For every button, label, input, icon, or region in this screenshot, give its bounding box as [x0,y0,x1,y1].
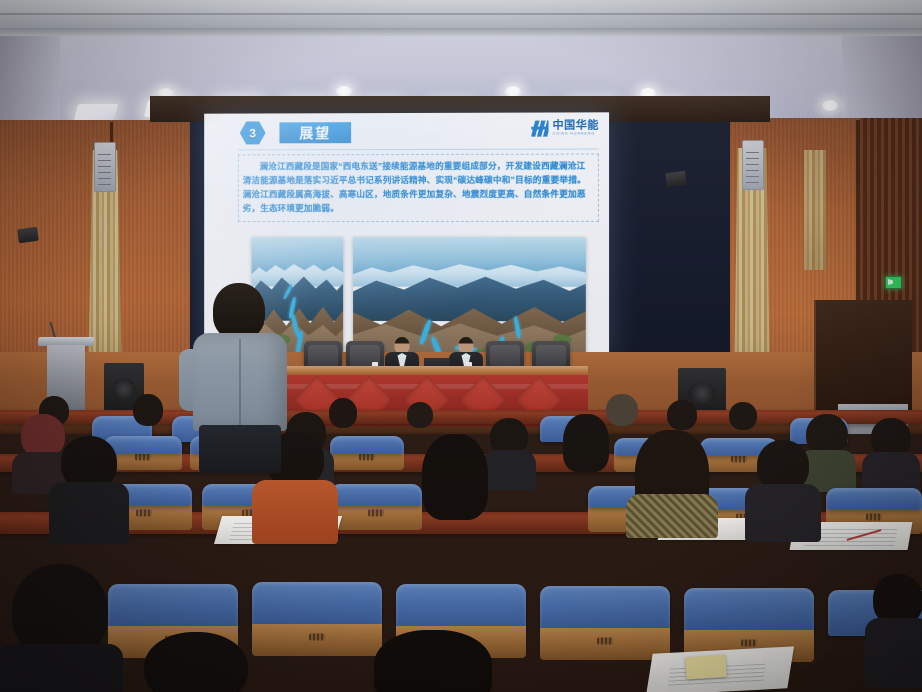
ceiling-downlight [822,100,838,111]
person-torso [626,494,718,538]
person-torso [745,484,821,542]
audience-seat [330,436,404,454]
audience-member [868,574,922,686]
person-hair [563,414,609,472]
logo-text-english: CHINA HUANENG [553,133,599,137]
logo-text-chinese: 中国华能 [553,121,599,132]
person-head [407,402,433,428]
audience-seating-area [0,388,922,692]
handout-paper [685,655,726,680]
audience-member [136,632,256,692]
audience-seat [396,584,526,630]
company-logo: 中国华能 CHINA HUANENG [531,120,599,136]
audience-member [418,434,492,532]
person-head [667,400,697,430]
table-top-surface [286,366,588,375]
curtain-track-bracket [742,140,764,190]
person-head [144,632,248,692]
audience-member [630,430,714,534]
audience-member [402,402,438,436]
wall-speaker [665,171,687,188]
slide-section-badge: 3 [240,121,266,144]
person-head [329,398,357,428]
slide-paragraph: 澜沧江西藏段是国家“西电东送”接续能源基地的重要组成部分，开发建设西藏澜沧江清洁… [243,160,594,216]
slide-title: 展望 [279,122,351,143]
audience-seat [684,588,814,634]
audience-member [128,394,168,436]
exit-sign-icon [885,276,902,289]
audience-seat [252,582,382,628]
audience-seat [108,584,238,630]
standing-presenter [185,283,293,468]
person-head [213,283,265,339]
audience-member [748,440,818,532]
audience-seat [330,484,422,506]
stage-curtain-far-right [804,150,826,270]
seat-back-panel [252,624,382,656]
conference-hall-photo: 3 展望 中国华能 CHINA HUANENG 澜沧江西藏段是国家“西电东送”接… [0,0,922,692]
audience-member [560,414,612,472]
audience-member [52,436,126,532]
audience-member [4,564,116,692]
person-torso [252,480,338,544]
slide-header: 3 展望 中国华能 CHINA HUANENG [204,112,609,149]
audience-seat [540,586,670,632]
person-trousers [199,425,281,473]
ceiling-panel-light [74,104,119,120]
person-torso [0,644,123,692]
person-hair [422,434,488,520]
audience-member [368,630,498,692]
audience-seat [826,488,922,510]
person-head [133,394,163,426]
huaneng-logo-icon [531,121,548,137]
audience-member [864,418,918,474]
person-shirt [193,333,287,431]
slide-header-divider [238,149,599,151]
slide-text-block: 澜沧江西藏段是国家“西电东送”接续能源基地的重要组成部分，开发建设西藏澜沧江清洁… [238,154,599,222]
person-torso [865,618,922,688]
seat-back-panel [540,628,670,660]
wall-speaker [17,227,39,244]
person-torso [49,482,129,544]
person-head [729,402,757,430]
audience-member [724,402,762,440]
curtain-track-bracket [94,142,116,192]
person-hair [374,630,492,692]
